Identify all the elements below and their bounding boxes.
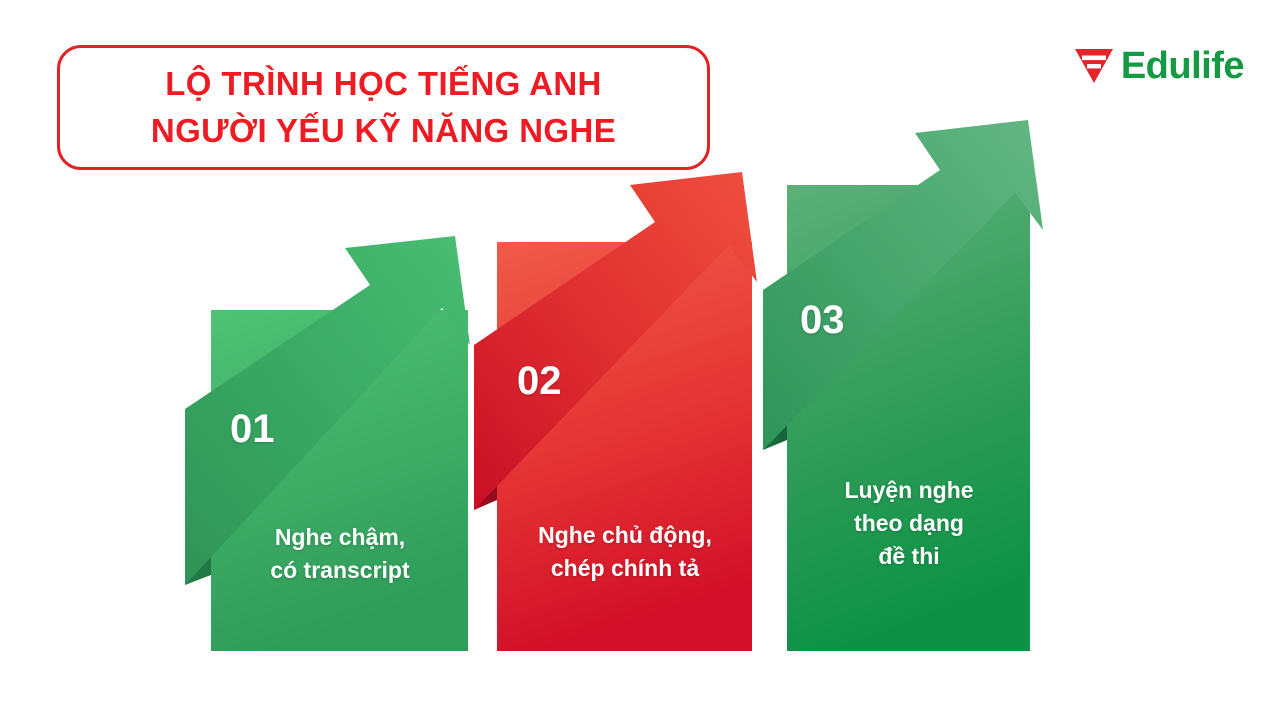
step-3-number: 03 — [800, 300, 845, 340]
title-line-2: NGƯỜI YẾU KỸ NĂNG NGHE — [151, 108, 616, 155]
brand-name: Edulife — [1121, 47, 1244, 85]
step-1-caption-line-1: Nghe chậm, — [211, 521, 469, 554]
title-card: LỘ TRÌNH HỌC TIẾNG ANH NGƯỜI YẾU KỸ NĂNG… — [57, 45, 710, 170]
title-line-1: LỘ TRÌNH HỌC TIẾNG ANH — [165, 61, 602, 108]
step-2-number: 02 — [517, 361, 562, 401]
step-1-caption: Nghe chậm, có transcript — [211, 521, 469, 587]
step-3-caption-line-1: Luyện nghe — [787, 474, 1031, 507]
step-1-number: 01 — [230, 409, 275, 449]
step-2-caption: Nghe chủ động, chép chính tả — [497, 519, 753, 585]
edulife-triangle-icon — [1074, 47, 1114, 85]
step-3-caption-line-3: đề thi — [787, 540, 1031, 573]
brand-logo[interactable]: Edulife — [1074, 47, 1244, 85]
step-3-caption-line-2: theo dạng — [787, 507, 1031, 540]
step-1-graphic[interactable] — [185, 236, 470, 651]
step-2-caption-line-1: Nghe chủ động, — [497, 519, 753, 552]
step-2-caption-line-2: chép chính tả — [497, 552, 753, 585]
step-1-caption-line-2: có transcript — [211, 554, 469, 587]
step-3-caption: Luyện nghe theo dạng đề thi — [787, 474, 1031, 573]
